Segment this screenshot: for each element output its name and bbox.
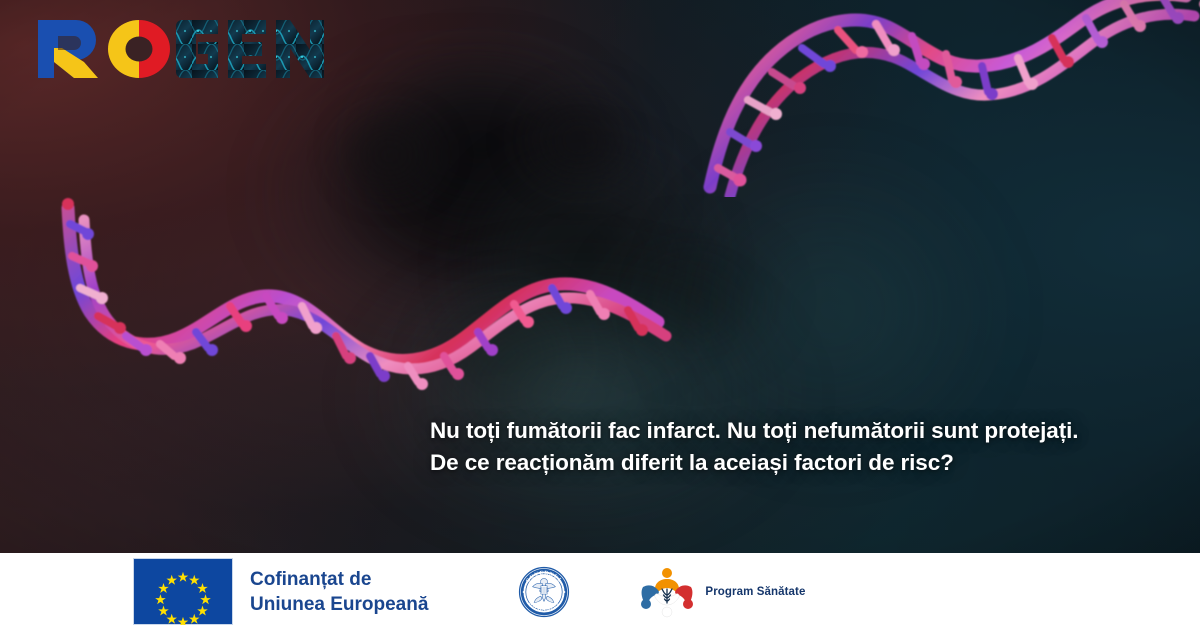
eu-funding-text-line-2: Uniunea Europeană — [250, 592, 428, 617]
campaign-headline: Nu toți fumătorii fac infarct. Nu toți n… — [430, 415, 1180, 479]
figure-orange-icon — [655, 568, 679, 591]
logo-letter-o — [108, 20, 170, 78]
logo-letter-r — [38, 20, 98, 78]
logo-letter-g — [176, 20, 218, 78]
logo-letter-e — [228, 20, 266, 78]
cigarette-smoke-plume — [250, 40, 680, 370]
smoke-puff-a — [300, 80, 480, 230]
rogen-logo[interactable] — [36, 19, 328, 79]
headline-line-1: Nu toți fumătorii fac infarct. Nu toți n… — [430, 415, 1180, 447]
eu-flag — [133, 558, 233, 625]
smoke-layer-upper — [330, 20, 660, 270]
hero-artwork: Nu toți fumătorii fac infarct. Nu toți n… — [0, 0, 1200, 553]
eu-funding-text-line-1: Cofinanțat de — [250, 567, 428, 592]
guvernul-romaniei-seal: GUVERNUL ROMÂNIEI — [518, 566, 570, 618]
eu-funding-text: Cofinanțat de Uniunea Europeană — [250, 567, 428, 617]
teal-haze-left — [360, 230, 880, 553]
dna-helix-illustration — [590, 0, 1200, 197]
headline-line-2: De ce reacționăm diferit la aceiași fact… — [430, 447, 1180, 479]
program-sanatate-logo: Program Sănătate — [638, 566, 805, 618]
smoke-puff-d — [560, 200, 820, 400]
funding-footer: Cofinanțat de Uniunea Europeană GUVERNUL — [0, 553, 1200, 630]
smoke-puff-b — [480, 60, 680, 220]
smoke-layer-lower — [420, 120, 740, 420]
poster-canvas: Nu toți fumătorii fac infarct. Nu toți n… — [0, 0, 1200, 630]
program-sanatate-label: Program Sănătate — [705, 586, 805, 598]
dna-helix-illustration-secondary — [40, 190, 700, 420]
european-union-funding: Cofinanțat de Uniunea Europeană — [133, 558, 428, 625]
logo-letter-n — [276, 20, 324, 78]
funding-logos-row: Cofinanțat de Uniunea Europeană GUVERNUL — [133, 558, 805, 625]
